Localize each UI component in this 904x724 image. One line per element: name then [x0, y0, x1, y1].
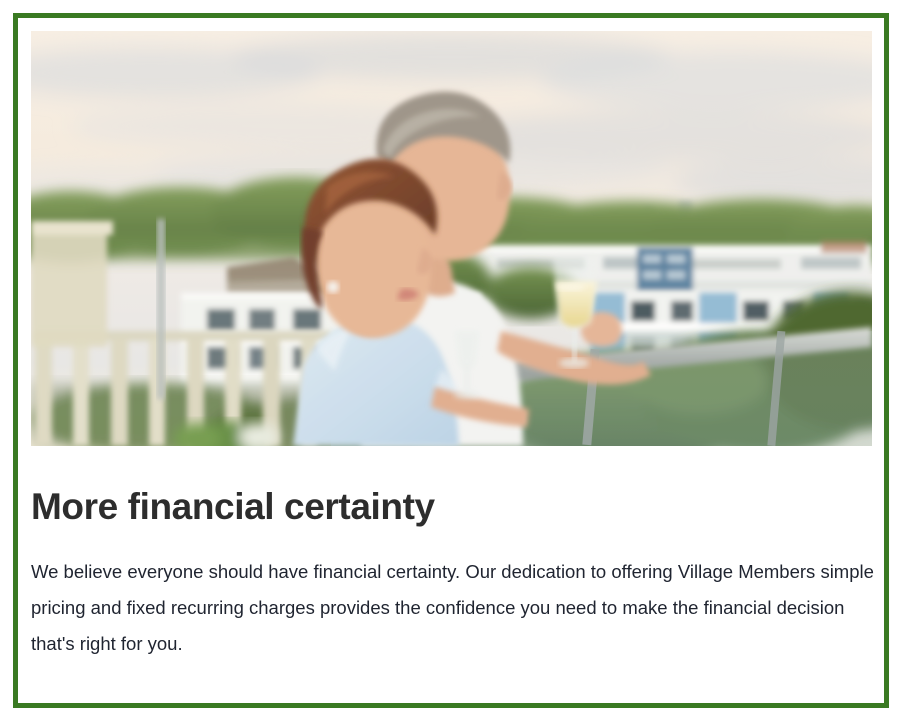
warm-overlay: [31, 31, 872, 446]
feature-card: More financial certainty We believe ever…: [13, 13, 889, 708]
page-title: More financial certainty: [31, 461, 877, 529]
photo-illustration: [31, 31, 872, 446]
card-text-block: More financial certainty We believe ever…: [31, 461, 877, 662]
card-body-text: We believe everyone should have financia…: [31, 529, 874, 662]
retirement-village-couple-balcony-photo: [31, 31, 872, 446]
